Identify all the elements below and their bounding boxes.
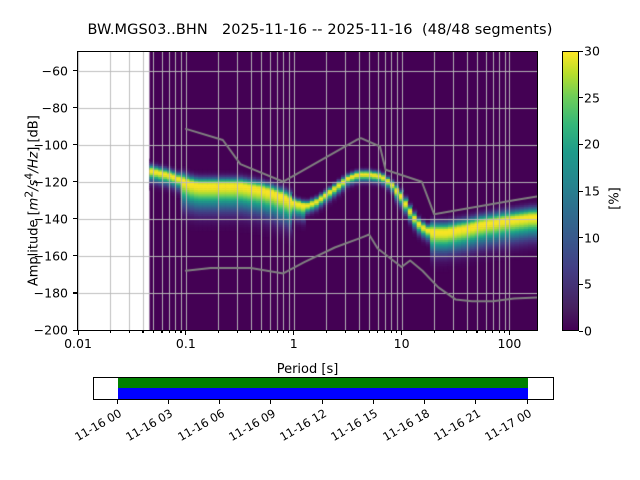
x-minor-tick-mark <box>485 331 486 333</box>
ppsd-figure: BW.MGS03..BHN 2025-11-16 -- 2025-11-16 (… <box>0 0 640 480</box>
x-minor-tick-mark <box>453 331 454 333</box>
colorbar[interactable] <box>562 51 579 331</box>
colorbar-tick-mark <box>579 51 583 52</box>
timeline-tick-mark <box>373 400 374 404</box>
y-tick-mark <box>73 255 77 256</box>
x-minor-tick-mark <box>175 331 176 333</box>
x-tick-label: 100 <box>479 336 539 351</box>
x-minor-tick-mark <box>358 331 359 333</box>
y-axis-label: Amplitude [m2/s4/Hz] [dB] <box>22 51 41 351</box>
colorbar-tick-label: 0 <box>584 324 592 339</box>
x-minor-tick-mark <box>384 331 385 333</box>
y-tick-mark <box>73 144 77 145</box>
coverage-band-blue <box>118 388 528 399</box>
timeline-tick-mark <box>475 400 476 404</box>
y-tick-mark <box>73 181 77 182</box>
x-minor-tick-mark <box>466 331 467 333</box>
x-tick-mark <box>78 331 79 335</box>
x-minor-tick-mark <box>434 331 435 333</box>
timeline-tick-mark <box>270 400 271 404</box>
x-minor-tick-mark <box>504 331 505 333</box>
timeline-tick-mark <box>219 400 220 404</box>
colorbar-tick-mark <box>579 191 583 192</box>
x-tick-mark <box>401 331 402 335</box>
x-tick-mark <box>293 331 294 335</box>
x-minor-tick-mark <box>250 331 251 333</box>
x-minor-tick-mark <box>161 331 162 333</box>
x-minor-tick-mark <box>288 331 289 333</box>
x-minor-tick-mark <box>277 331 278 333</box>
x-minor-tick-mark <box>129 331 130 333</box>
x-minor-tick-mark <box>326 331 327 333</box>
x-minor-tick-mark <box>499 331 500 333</box>
x-tick-label: 0.1 <box>156 336 216 351</box>
colorbar-tick-label: 20 <box>584 137 600 152</box>
x-tick-label: 1 <box>264 336 324 351</box>
y-tick-mark <box>73 70 77 71</box>
x-minor-tick-mark <box>345 331 346 333</box>
x-minor-tick-mark <box>110 331 111 333</box>
timeline-tick-mark <box>527 400 528 404</box>
colorbar-tick-mark <box>579 144 583 145</box>
x-minor-tick-mark <box>261 331 262 333</box>
x-minor-tick-mark <box>237 331 238 333</box>
x-tick-mark <box>185 331 186 335</box>
colorbar-tick-label: 15 <box>584 184 600 199</box>
colorbar-tick-label: 25 <box>584 90 600 105</box>
x-minor-tick-mark <box>218 331 219 333</box>
y-tick-mark <box>73 218 77 219</box>
x-tick-label: 10 <box>372 336 432 351</box>
colorbar-label: [%] <box>608 99 623 299</box>
x-tick-mark <box>509 331 510 335</box>
timeline-tick-mark <box>322 400 323 404</box>
colorbar-tick-mark <box>579 331 583 332</box>
x-minor-tick-mark <box>142 331 143 333</box>
data-coverage-timeline[interactable] <box>93 377 554 400</box>
x-minor-tick-mark <box>391 331 392 333</box>
colorbar-tick-mark <box>579 97 583 98</box>
x-minor-tick-mark <box>153 331 154 333</box>
x-minor-tick-mark <box>377 331 378 333</box>
timeline-tick-mark <box>168 400 169 404</box>
x-minor-tick-mark <box>396 331 397 333</box>
colorbar-tick-mark <box>579 237 583 238</box>
timeline-tick-mark <box>424 400 425 404</box>
y-tick-mark <box>73 330 77 331</box>
x-minor-tick-mark <box>476 331 477 333</box>
x-minor-tick-mark <box>369 331 370 333</box>
colorbar-tick-mark <box>579 284 583 285</box>
colorbar-tick-label: 5 <box>584 277 592 292</box>
x-minor-tick-mark <box>283 331 284 333</box>
x-tick-label: 0.01 <box>48 336 108 351</box>
colorbar-tick-label: 30 <box>584 44 600 59</box>
x-minor-tick-mark <box>169 331 170 333</box>
timeline-tick-mark <box>117 400 118 404</box>
x-axis-label: Period [s] <box>77 362 538 377</box>
x-minor-tick-mark <box>269 331 270 333</box>
coverage-band-green <box>118 378 528 388</box>
colorbar-tick-label: 10 <box>584 230 600 245</box>
y-tick-mark <box>73 107 77 108</box>
x-minor-tick-mark <box>180 331 181 333</box>
y-tick-mark <box>73 292 77 293</box>
x-minor-tick-mark <box>492 331 493 333</box>
